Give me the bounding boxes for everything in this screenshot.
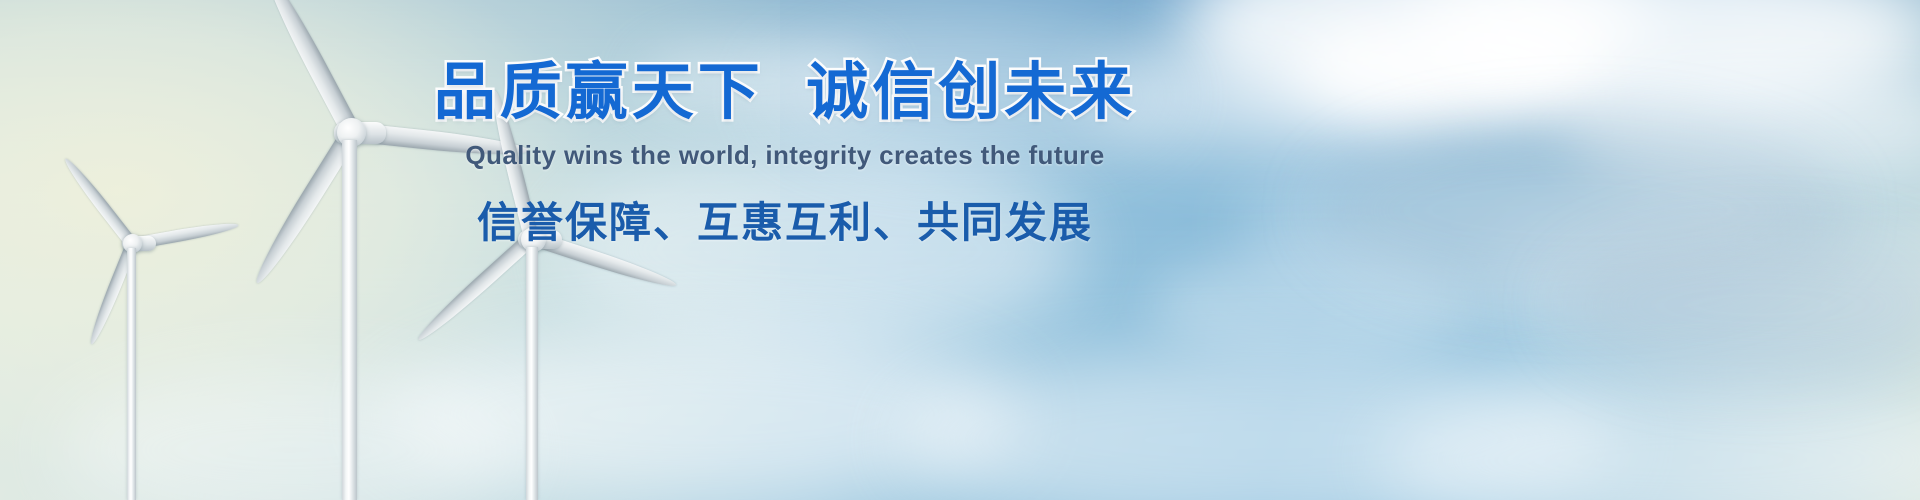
wind-turbine-center (400, 90, 760, 500)
turbine-tower (127, 248, 136, 500)
turbine-tower (342, 140, 357, 500)
turbine-blade (260, 0, 360, 136)
turbine-blade (61, 155, 137, 247)
hero-banner: 品质赢天下 诚信创未来 Quality wins the world, inte… (0, 0, 1920, 500)
turbine-blade (414, 232, 537, 345)
turbine-blade (487, 89, 538, 240)
turbine-tower (526, 247, 538, 500)
